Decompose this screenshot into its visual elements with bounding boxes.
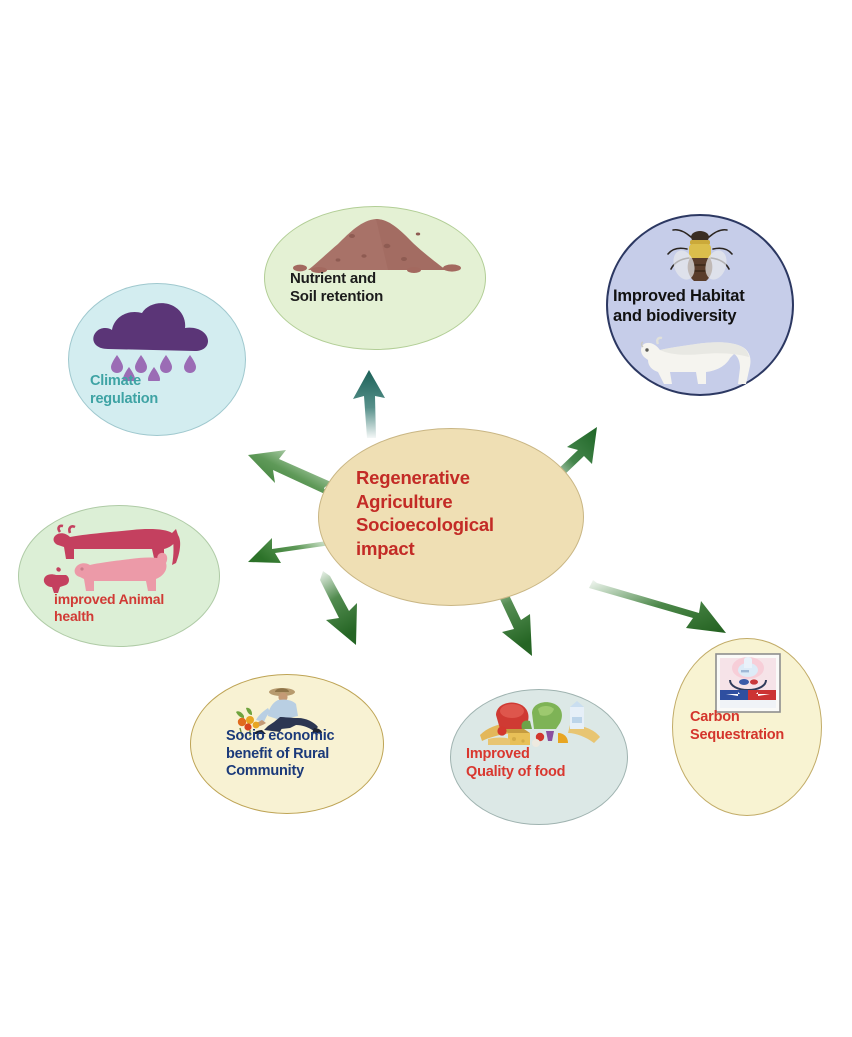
farm-animals-icon	[40, 519, 200, 597]
diagram-canvas: Regenerative Agriculture Socioecological…	[0, 0, 852, 1037]
center-node-label: Regenerative Agriculture Socioecological…	[356, 466, 556, 561]
carbon-cycle-thumbnail-icon	[714, 652, 782, 714]
node-climate-regulation[interactable]: Climate regulation	[68, 283, 246, 436]
carbon-sequestration-label: Carbon Sequestration	[690, 709, 818, 744]
polar-bear-icon	[634, 330, 766, 390]
center-node-regenerative-agriculture[interactable]: Regenerative Agriculture Socioecological…	[318, 428, 584, 606]
node-improved-quality-of-food[interactable]: Improved Quality of food	[450, 689, 628, 825]
node-carbon-sequestration[interactable]: Carbon Sequestration	[672, 638, 822, 816]
bee-icon	[660, 225, 740, 287]
rain-cloud-icon	[84, 297, 230, 381]
socio-economic-benefit-label: Socio economic benefit of Rural Communit…	[226, 728, 366, 781]
soil-mound-icon	[292, 214, 462, 276]
improved-habitat-label: Improved Habitat and biodiversity	[613, 286, 789, 326]
node-nutrient-soil-retention[interactable]: Nutrient and Soil retention	[264, 206, 486, 350]
arrow-to-carbon-sequestration	[589, 580, 726, 633]
improved-animal-health-label: improved Animal health	[54, 591, 206, 625]
food-assortment-icon	[474, 699, 606, 751]
nutrient-soil-retention-label: Nutrient and Soil retention	[290, 270, 460, 307]
improved-quality-of-food-label: Improved Quality of food	[466, 746, 606, 781]
climate-regulation-label: Climate regulation	[90, 373, 220, 408]
node-improved-habitat-biodiversity[interactable]: Improved Habitat and biodiversity	[606, 214, 794, 396]
node-socio-economic-benefit[interactable]: Socio economic benefit of Rural Communit…	[190, 674, 384, 814]
node-improved-animal-health[interactable]: improved Animal health	[18, 505, 220, 647]
